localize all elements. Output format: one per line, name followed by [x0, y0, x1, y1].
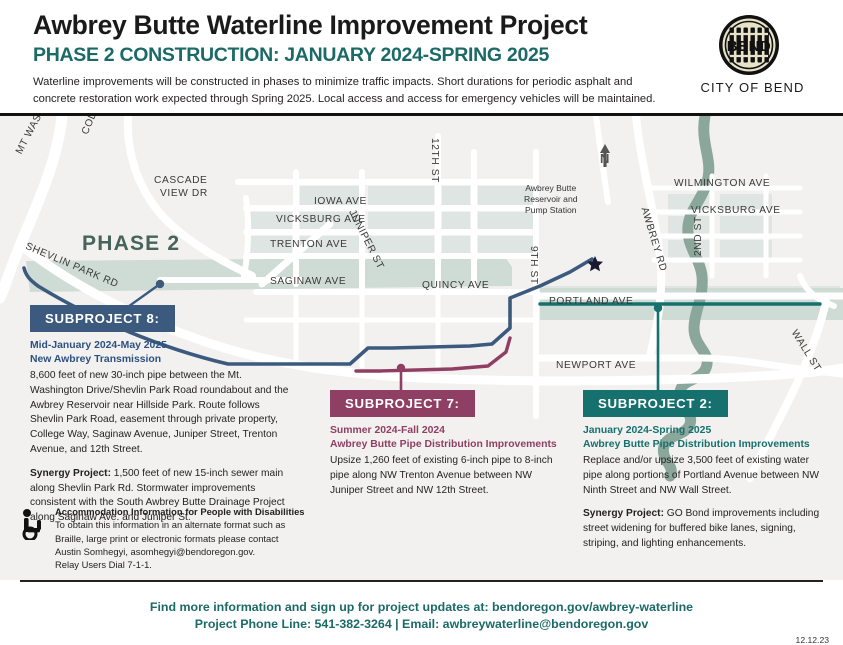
callout-date-8: Mid-January 2024-May 2025 — [30, 339, 292, 353]
callout-synergy-label-2: Synergy Project: — [583, 508, 664, 519]
callout-date-7: Summer 2024-Fall 2024 — [330, 424, 562, 438]
accessibility-line-2: Braille, large print or electronic forma… — [55, 532, 320, 545]
footer-info-line[interactable]: Find more information and sign up for pr… — [0, 600, 843, 614]
callout-body-2: Replace and/or upsize 3,500 feet of exis… — [583, 454, 821, 498]
street-label-iowa-ave: IOWA AVE — [314, 196, 367, 207]
callout-subproject-8[interactable]: SUBPROJECT 8: Mid-January 2024-May 2025 … — [30, 305, 292, 526]
accessibility-line-3: Austin Somhegyi, asomhegyi@bendoregon.go… — [55, 545, 320, 558]
street-label-wilmington-ave: WILMINGTON AVE — [674, 178, 770, 189]
page-subtitle: PHASE 2 CONSTRUCTION: JANUARY 2024-SPRIN… — [33, 45, 673, 65]
callout-body-7: Upsize 1,260 feet of existing 6-inch pip… — [330, 454, 562, 498]
callout-chip-8[interactable]: SUBPROJECT 8: — [30, 305, 175, 332]
callout-synergy-2: Synergy Project: GO Bond improvements in… — [583, 507, 821, 551]
street-label-cascade: CASCADE — [154, 175, 207, 186]
reservoir-label-line2: Reservoir and — [524, 194, 578, 205]
wheelchair-icon — [18, 508, 48, 540]
street-label-vicksburg-ave-e: VICKSBURG AVE — [691, 205, 781, 216]
page-title: Awbrey Butte Waterline Improvement Proje… — [33, 12, 673, 40]
callout-synergy-label-8: Synergy Project: — [30, 468, 111, 479]
header: Awbrey Butte Waterline Improvement Proje… — [0, 0, 843, 113]
callout-chip-2[interactable]: SUBPROJECT 2: — [583, 390, 728, 417]
street-label-newport-ave: NEWPORT AVE — [556, 360, 636, 371]
reservoir-label-line3: Pump Station — [524, 205, 578, 216]
street-label-12th-st: 12TH ST — [429, 138, 440, 183]
north-label: N — [600, 151, 609, 166]
street-label-2nd-st: 2ND ST — [693, 216, 704, 256]
callout-title-8: New Awbrey Transmission — [30, 353, 292, 367]
callout-body-8: 8,600 feet of new 30-inch pipe between t… — [30, 369, 292, 458]
footer-contact-line[interactable]: Project Phone Line: 541-382-3264 | Email… — [0, 617, 843, 631]
street-label-quincy-ave: QUINCY AVE — [422, 280, 489, 291]
footer-divider — [20, 580, 823, 582]
accessibility-line-1: To obtain this information in an alterna… — [55, 518, 320, 531]
accessibility-line-4: Relay Users Dial 7-1-1. — [55, 558, 320, 571]
footer: Find more information and sign up for pr… — [0, 580, 843, 643]
footer-date: 12.12.23 — [796, 635, 829, 645]
street-label-saginaw-ave: SAGINAW AVE — [270, 276, 346, 287]
poster-sheet: Awbrey Butte Waterline Improvement Proje… — [0, 0, 843, 643]
street-label-view-dr: VIEW DR — [160, 188, 208, 199]
callout-title-2: Awbrey Butte Pipe Distribution Improveme… — [583, 438, 821, 452]
callout-subproject-7[interactable]: SUBPROJECT 7: Summer 2024-Fall 2024 Awbr… — [330, 390, 562, 498]
accessibility-heading: Accommodation Information for People wit… — [55, 505, 320, 518]
city-of-bend-label: CITY OF BEND — [690, 80, 815, 95]
street-label-portland-ave: PORTLAND AVE — [549, 296, 633, 307]
bend-seal-text: BEND — [727, 38, 772, 55]
accessibility-text: Accommodation Information for People wit… — [55, 505, 320, 572]
street-label-9th-st: 9TH ST — [528, 246, 539, 285]
intro-paragraph: Waterline improvements will be construct… — [33, 74, 673, 108]
callout-date-2: January 2024-Spring 2025 — [583, 424, 821, 438]
callout-chip-7[interactable]: SUBPROJECT 7: — [330, 390, 475, 417]
city-of-bend-logo: BEND CITY OF BEND — [690, 14, 830, 109]
reservoir-label-line1: Awbrey Butte — [524, 183, 578, 194]
street-label-trenton-ave: TRENTON AVE — [270, 239, 348, 250]
phase-2-map-label: PHASE 2 — [82, 232, 180, 256]
callout-title-7: Awbrey Butte Pipe Distribution Improveme… — [330, 438, 562, 452]
callout-subproject-2[interactable]: SUBPROJECT 2: January 2024-Spring 2025 A… — [583, 390, 821, 552]
bend-seal-icon: BEND — [718, 14, 780, 76]
